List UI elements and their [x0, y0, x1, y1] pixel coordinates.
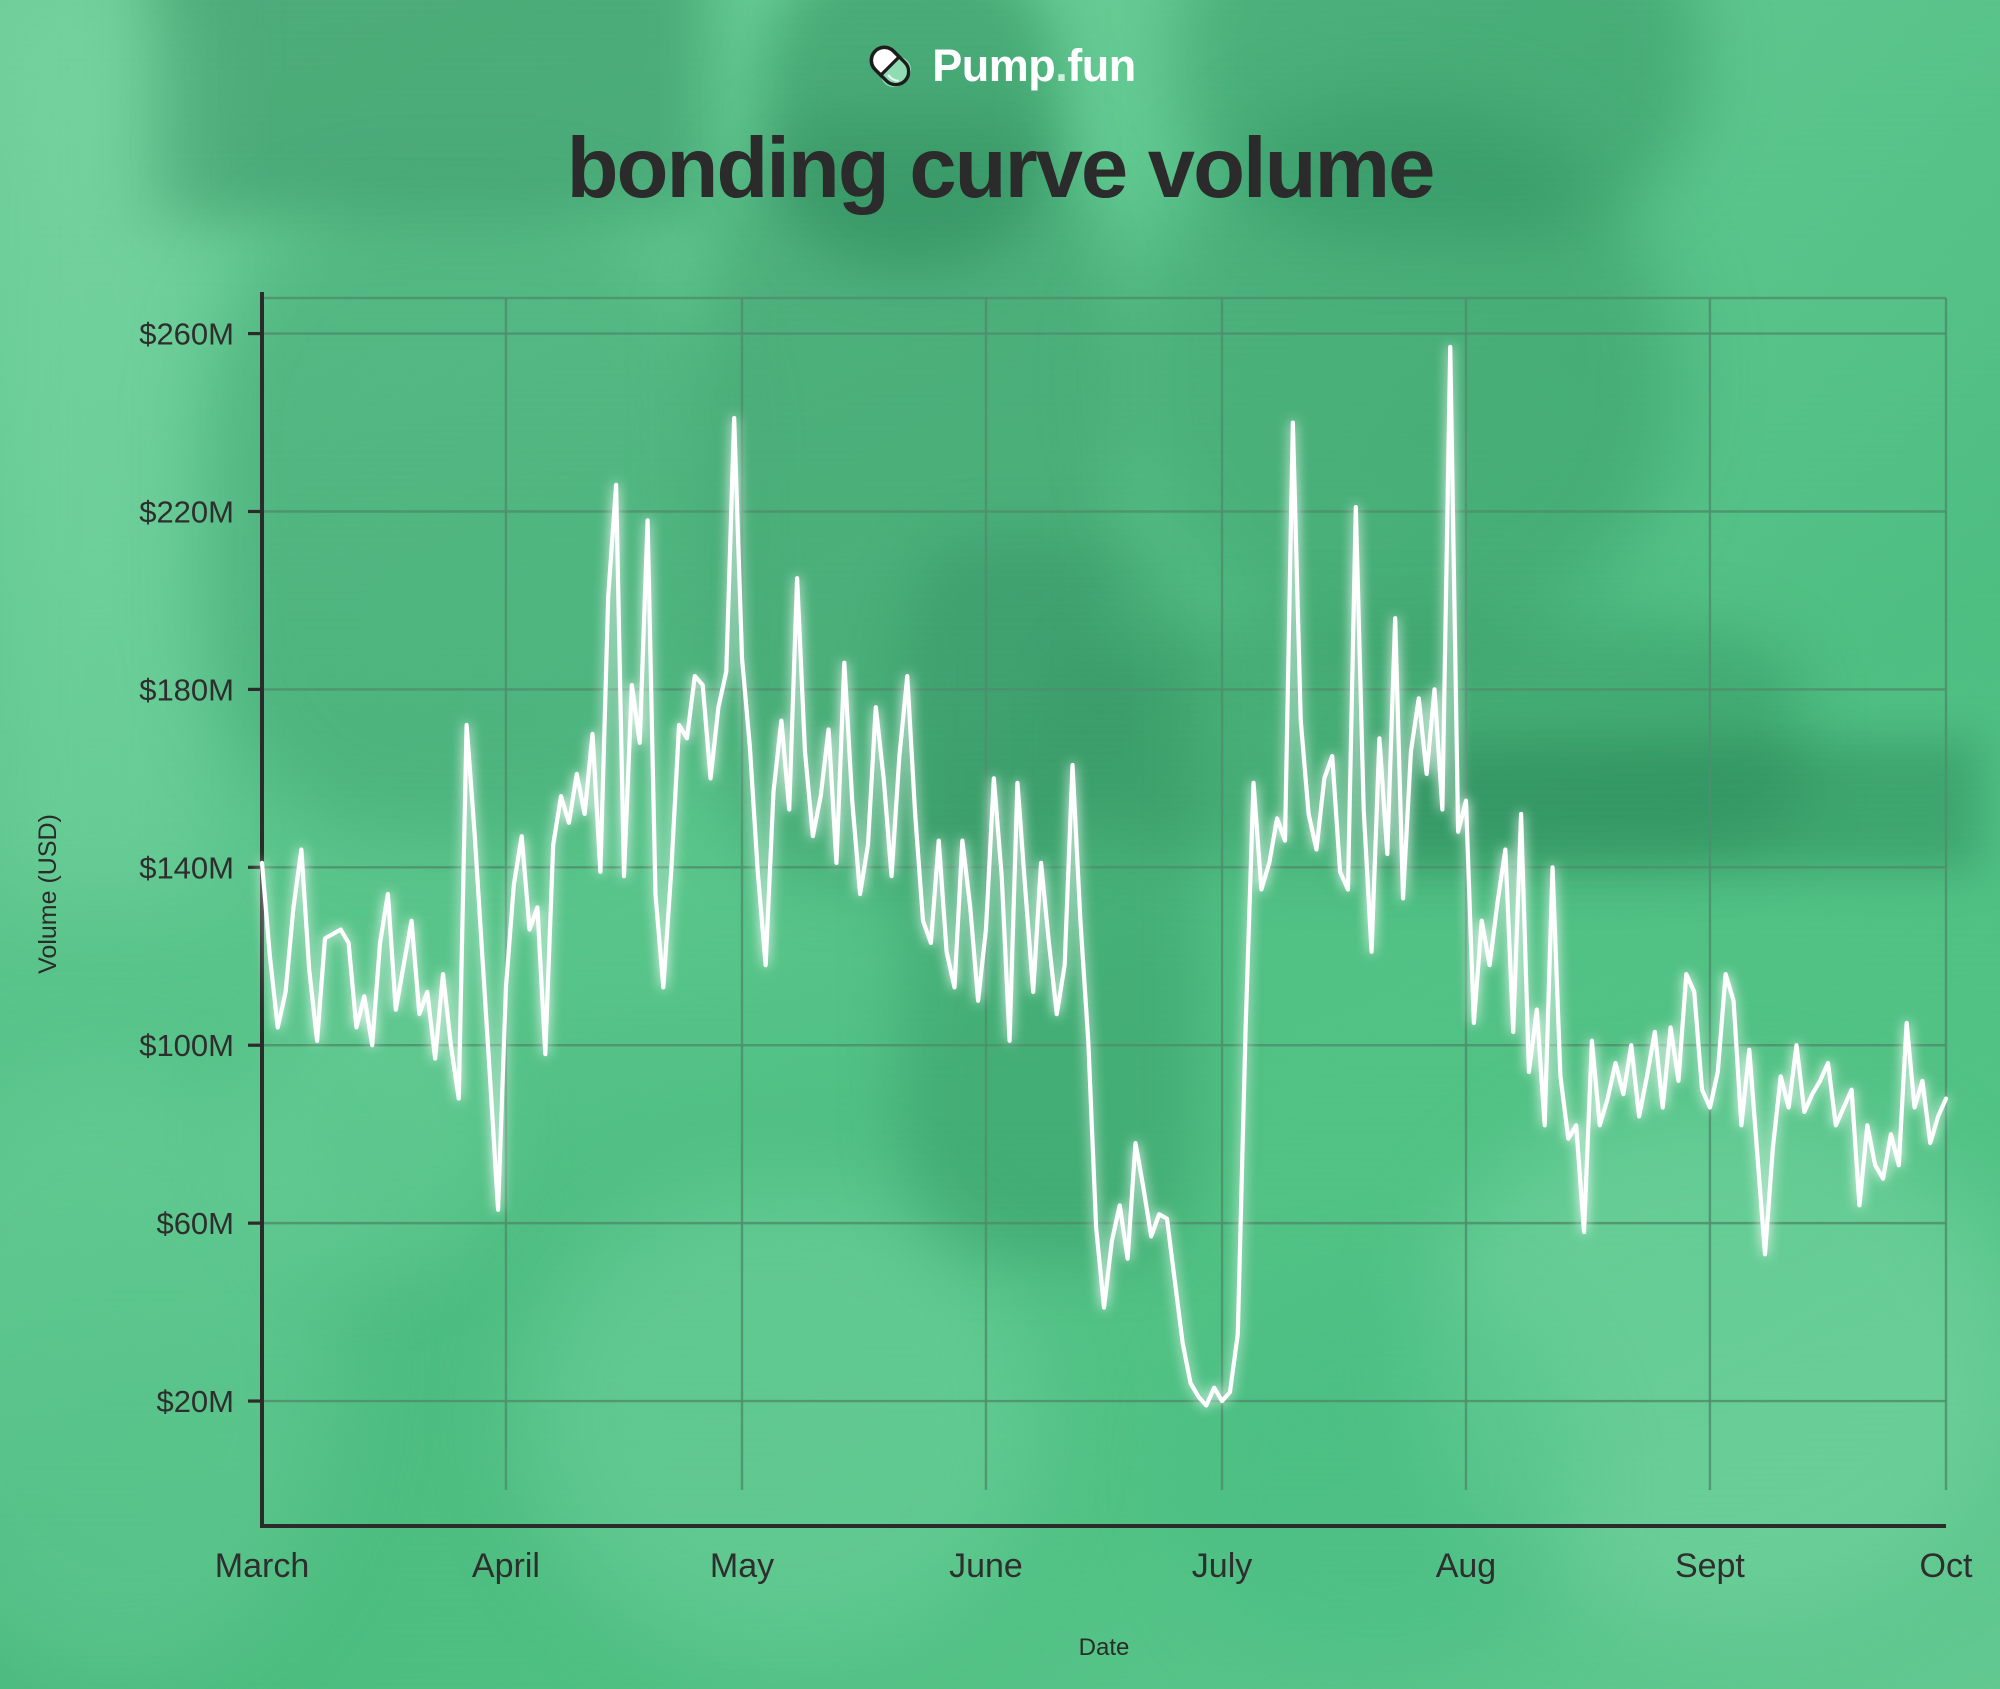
x-axis-tick-label: April — [472, 1547, 540, 1585]
brand-name: Pump.fun — [932, 40, 1136, 92]
y-axis-tick-label: $140M — [139, 850, 234, 885]
y-axis-tick-label: $220M — [139, 494, 234, 529]
x-axis-tick-label: May — [710, 1547, 774, 1585]
y-axis-tick-label: $100M — [139, 1028, 234, 1063]
x-axis-title: Date — [1079, 1634, 1130, 1661]
x-axis-tick-label: March — [215, 1547, 309, 1585]
y-axis-tick-labels: $20M$60M$100M$140M$180M$220M$260M — [139, 317, 234, 1419]
page-title: bonding curve volume — [0, 120, 2000, 218]
x-axis-tick-label: Aug — [1436, 1547, 1497, 1585]
chart-gridlines — [262, 298, 2000, 1490]
x-axis-tick-labels: MarchAprilMayJuneJulyAugSeptOctNovDec — [215, 1547, 2000, 1585]
y-axis-tick-label: $180M — [139, 672, 234, 707]
x-axis-tick-label: June — [949, 1547, 1023, 1585]
y-axis-title: Volume (USD) — [34, 814, 62, 974]
y-axis-tick-label: $60M — [156, 1206, 234, 1241]
volume-series-line — [262, 347, 1946, 1406]
brand-name-part1: Pump — [932, 40, 1055, 91]
x-axis-tick-label: July — [1192, 1547, 1252, 1585]
brand-name-part2: fun — [1067, 40, 1135, 91]
y-axis-tick-label: $260M — [139, 317, 234, 352]
y-axis-tick-label: $20M — [156, 1384, 234, 1419]
chart-axes — [248, 292, 1946, 1526]
brand-logo: Pump.fun — [0, 40, 2000, 92]
line-chart: $20M$60M$100M$140M$180M$220M$260M MarchA… — [0, 0, 2000, 1689]
pill-capsule-icon — [864, 40, 916, 92]
chart-container: $20M$60M$100M$140M$180M$220M$260M MarchA… — [0, 0, 2000, 1689]
x-axis-tick-label: Oct — [1920, 1547, 1973, 1585]
brand-name-dot: . — [1055, 40, 1067, 91]
x-axis-tick-label: Sept — [1675, 1547, 1745, 1585]
